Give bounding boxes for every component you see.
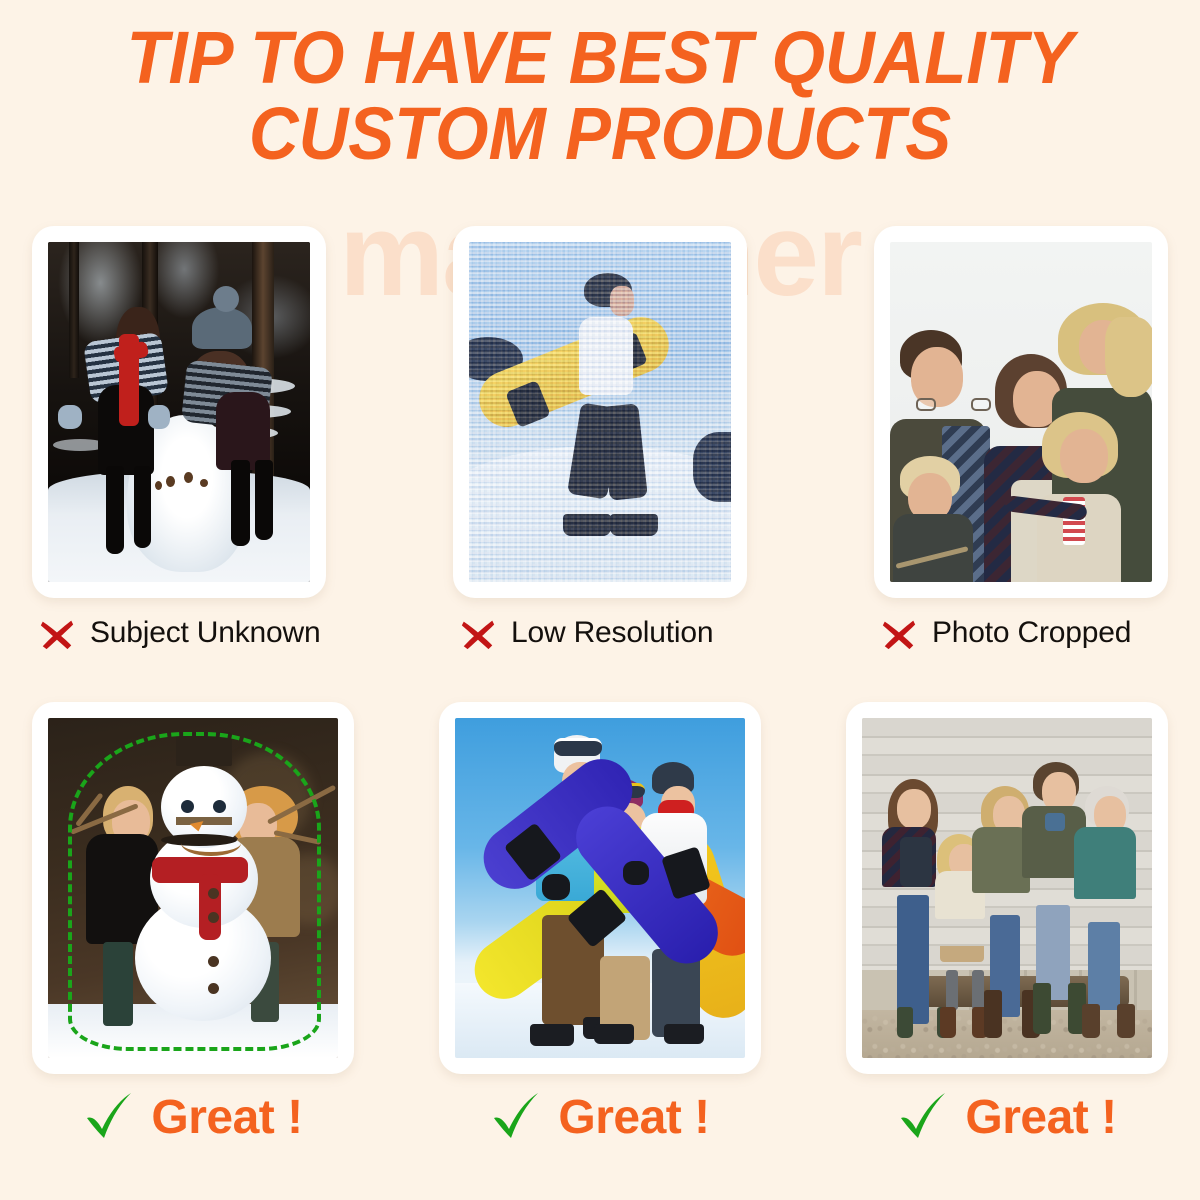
label-subject-unknown: Subject Unknown (32, 614, 326, 652)
title-line-2: CUSTOM PRODUCTS (42, 96, 1158, 172)
row-bad-examples: Subject Unknown (0, 226, 1200, 652)
example-cell-great-snowman[interactable]: Great ! (32, 702, 354, 1148)
photo-subject-unknown (48, 242, 310, 582)
photo-card (32, 702, 354, 1074)
example-cell-great-snowboarders[interactable]: Great ! (439, 702, 761, 1148)
example-cell-low-resolution[interactable]: Low Resolution (453, 226, 747, 652)
label-text: Low Resolution (511, 616, 713, 650)
photo-card (874, 226, 1168, 598)
example-cell-great-family[interactable]: Great ! (846, 702, 1168, 1148)
label-text: Great ! (151, 1090, 302, 1145)
green-check-icon (490, 1091, 542, 1143)
photo-great-snowman (48, 718, 338, 1058)
photo-card (32, 226, 326, 598)
green-check-icon (83, 1091, 135, 1143)
green-check-icon (897, 1091, 949, 1143)
example-cell-photo-cropped[interactable]: Photo Cropped (874, 226, 1168, 652)
title-line-1: TIP TO HAVE BEST QUALITY (42, 20, 1158, 96)
label-great-snowboarders: Great ! (439, 1086, 761, 1148)
red-x-icon (880, 614, 918, 652)
photo-card (453, 226, 747, 598)
subject-selection-outline (68, 732, 320, 1052)
photo-great-snowboarders (455, 718, 745, 1058)
label-low-resolution: Low Resolution (453, 614, 747, 652)
example-cell-subject-unknown[interactable]: Subject Unknown (32, 226, 326, 652)
row-good-examples: Great ! (0, 702, 1200, 1148)
label-text: Subject Unknown (90, 616, 320, 650)
photo-card (846, 702, 1168, 1074)
photo-card (439, 702, 761, 1074)
photo-photo-cropped (890, 242, 1152, 582)
examples-grid: Subject Unknown (0, 226, 1200, 1148)
label-photo-cropped: Photo Cropped (874, 614, 1168, 652)
photo-low-resolution (469, 242, 731, 582)
red-x-icon (38, 614, 76, 652)
label-great-snowman: Great ! (32, 1086, 354, 1148)
label-text: Great ! (558, 1090, 709, 1145)
page-title: TIP TO HAVE BEST QUALITY CUSTOM PRODUCTS (0, 20, 1200, 172)
label-great-family: Great ! (846, 1086, 1168, 1148)
photo-great-family (862, 718, 1152, 1058)
label-text: Great ! (965, 1090, 1116, 1145)
label-text: Photo Cropped (932, 616, 1131, 650)
red-x-icon (459, 614, 497, 652)
